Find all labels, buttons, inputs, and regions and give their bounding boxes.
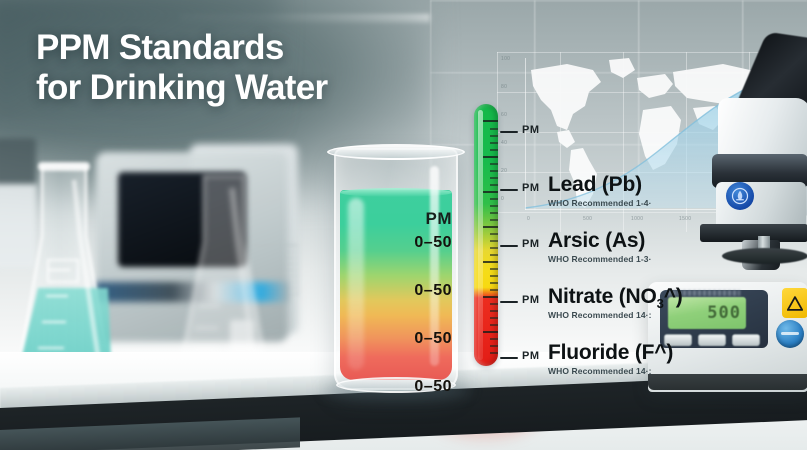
legend-pm-label: PM <box>522 294 540 306</box>
legend-who-note: WHO Recommended 1-4· <box>548 198 652 208</box>
legend-contaminant-name: Fluoride (F^) <box>548 341 673 365</box>
beaker-liquid-gloss <box>348 198 364 370</box>
chart-x-tick: 1000 <box>631 216 643 222</box>
meter-sample-stage <box>722 248 807 264</box>
chart-y-tick: 20 <box>501 168 507 174</box>
meter-control-knob[interactable] <box>776 320 804 348</box>
title-line-2: for Drinking Water <box>36 68 436 108</box>
warning-triangle-icon <box>782 288 807 318</box>
chart-y-tick: 60 <box>501 112 507 118</box>
chart-y-tick: 100 <box>501 56 510 62</box>
beaker-scale-labels: PM 0–50 0–50 0–50 0–50 <box>382 210 452 396</box>
ppm-gauge <box>474 104 498 366</box>
beaker-reading: 0–50 <box>382 330 452 348</box>
legend-who-note: WHO Recommended 1-3· <box>548 254 652 264</box>
meter-button-cal[interactable] <box>698 334 726 346</box>
legend-name-base: Nitrate (NO <box>548 285 657 308</box>
beaker-reading: 0–50 <box>382 378 452 396</box>
infographic-canvas: 100 80 60 40 20 0 0 500 1000 1500 2000 2… <box>0 0 807 450</box>
gauge-tick-marks <box>483 114 498 360</box>
beaker-reading: 0–50 <box>382 282 452 300</box>
legend-contaminant-name: Arsic (As) <box>548 229 645 253</box>
main-beaker: PM 0–50 0–50 0–50 0–50 <box>334 148 458 390</box>
legend-name-subscript: 3 <box>657 296 664 311</box>
legend-contaminant-name: Nitrate (NO3^) <box>548 285 683 311</box>
chart-x-tick: 500 <box>583 216 592 222</box>
chart-x-tick: 1500 <box>679 216 691 222</box>
legend-pm-label: PM <box>522 238 540 250</box>
chart-y-tick: 0 <box>501 196 504 202</box>
meter-base <box>648 374 807 390</box>
gauge-tick-label-top: PM <box>522 124 540 136</box>
page-title: PPM Standards for Drinking Water <box>36 28 436 108</box>
legend-contaminant-name: Lead (Pb) <box>548 173 642 197</box>
legend-pm-label: PM <box>522 350 540 362</box>
chart-x-tick: 0 <box>527 216 530 222</box>
chart-y-tick: 80 <box>501 84 507 90</box>
legend-name-tail: ^) <box>664 285 683 308</box>
title-line-1: PPM Standards <box>36 28 436 68</box>
beaker-reading: 0–50 <box>382 234 452 252</box>
legend-who-note: WHO Recommended 14·: <box>548 310 652 320</box>
microscope-brand-logo-icon <box>726 182 754 210</box>
chart-y-tick: 40 <box>501 140 507 146</box>
legend-who-note: WHO Recommended 14·: <box>548 366 652 376</box>
legend-pm-label: PM <box>522 182 540 194</box>
meter-button-run[interactable] <box>732 334 760 346</box>
beaker-rim <box>327 144 465 160</box>
beaker-unit-label: PM <box>382 210 452 227</box>
